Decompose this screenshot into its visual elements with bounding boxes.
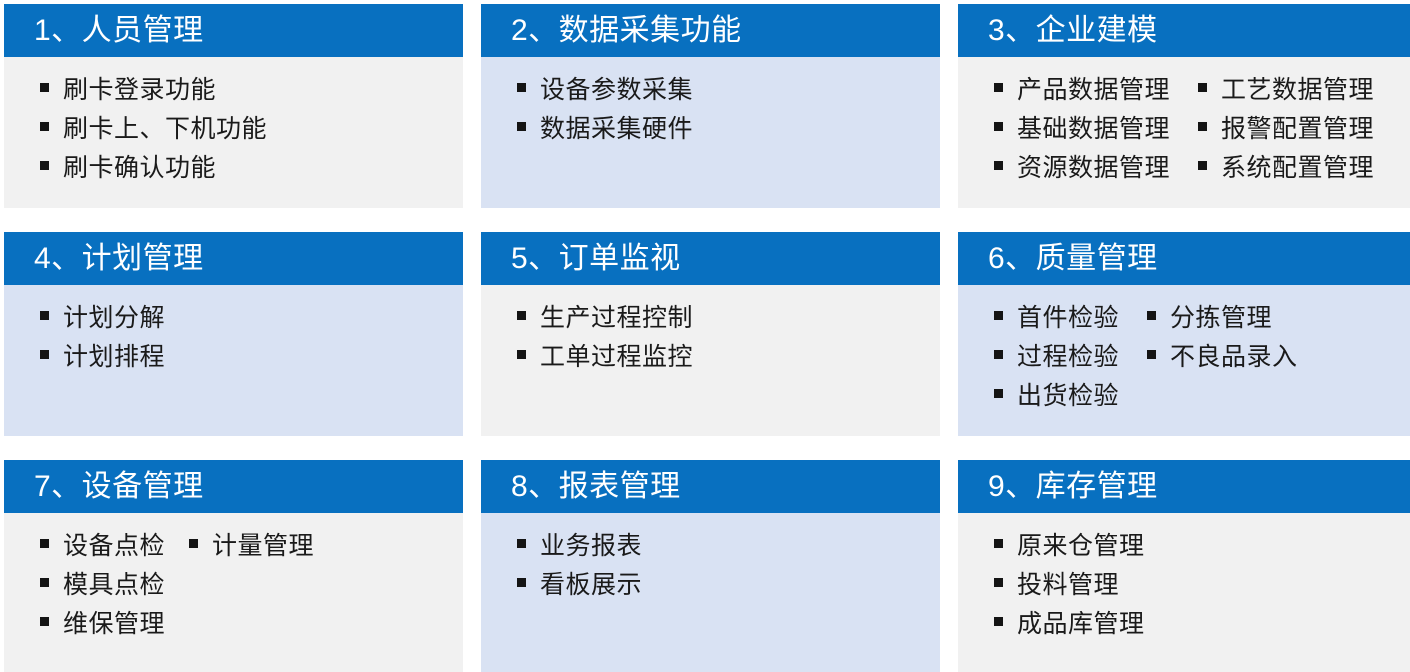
module-card-8: 8、报表管理业务报表看板展示 bbox=[481, 460, 940, 672]
module-item-label: 维保管理 bbox=[63, 605, 165, 644]
module-item-column-right: 计量管理 bbox=[165, 527, 314, 566]
square-bullet-icon bbox=[40, 161, 49, 170]
module-item: 产品数据管理 bbox=[994, 71, 1170, 110]
module-card-1: 1、人员管理刷卡登录功能刷卡上、下机功能刷卡确认功能 bbox=[4, 4, 463, 208]
module-item-column-left: 设备点检模具点检维保管理 bbox=[4, 527, 165, 644]
square-bullet-icon bbox=[517, 83, 526, 92]
module-item-label: 刷卡登录功能 bbox=[63, 71, 216, 110]
module-card-body: 生产过程控制工单过程监控 bbox=[481, 285, 940, 436]
module-card-header: 7、设备管理 bbox=[4, 460, 463, 513]
square-bullet-icon bbox=[517, 539, 526, 548]
module-item-label: 生产过程控制 bbox=[540, 299, 693, 338]
module-item: 数据采集硬件 bbox=[517, 110, 693, 149]
module-card-header: 1、人员管理 bbox=[4, 4, 463, 57]
module-card-4: 4、计划管理计划分解计划排程 bbox=[4, 232, 463, 436]
module-item: 刷卡登录功能 bbox=[40, 71, 267, 110]
module-item-label: 设备参数采集 bbox=[540, 71, 693, 110]
square-bullet-icon bbox=[1198, 161, 1207, 170]
module-item: 系统配置管理 bbox=[1198, 149, 1374, 188]
module-item: 模具点检 bbox=[40, 566, 165, 605]
module-item-column-left: 业务报表看板展示 bbox=[481, 527, 642, 605]
module-card-2: 2、数据采集功能设备参数采集数据采集硬件 bbox=[481, 4, 940, 208]
module-item-column-left: 产品数据管理基础数据管理资源数据管理 bbox=[958, 71, 1170, 188]
square-bullet-icon bbox=[994, 578, 1003, 587]
module-item: 刷卡上、下机功能 bbox=[40, 110, 267, 149]
square-bullet-icon bbox=[517, 578, 526, 587]
module-card-3: 3、企业建模产品数据管理基础数据管理资源数据管理工艺数据管理报警配置管理系统配置… bbox=[958, 4, 1410, 208]
module-item: 设备点检 bbox=[40, 527, 165, 566]
module-item-label: 投料管理 bbox=[1017, 566, 1119, 605]
module-item-label: 工单过程监控 bbox=[540, 338, 693, 377]
module-item-label: 不良品录入 bbox=[1170, 338, 1298, 377]
module-item: 原来仓管理 bbox=[994, 527, 1145, 566]
square-bullet-icon bbox=[994, 350, 1003, 359]
square-bullet-icon bbox=[40, 83, 49, 92]
square-bullet-icon bbox=[994, 311, 1003, 320]
module-item: 分拣管理 bbox=[1147, 299, 1298, 338]
module-item: 报警配置管理 bbox=[1198, 110, 1374, 149]
module-item-label: 资源数据管理 bbox=[1017, 149, 1170, 188]
module-item-label: 业务报表 bbox=[540, 527, 642, 566]
square-bullet-icon bbox=[40, 578, 49, 587]
module-card-6: 6、质量管理首件检验过程检验出货检验分拣管理不良品录入 bbox=[958, 232, 1410, 436]
module-item-column-left: 设备参数采集数据采集硬件 bbox=[481, 71, 693, 149]
module-item: 设备参数采集 bbox=[517, 71, 693, 110]
module-item-label: 刷卡上、下机功能 bbox=[63, 110, 267, 149]
module-item-label: 原来仓管理 bbox=[1017, 527, 1145, 566]
module-item-column-right: 分拣管理不良品录入 bbox=[1119, 299, 1298, 377]
module-item-column-left: 计划分解计划排程 bbox=[4, 299, 165, 377]
module-item-column-left: 刷卡登录功能刷卡上、下机功能刷卡确认功能 bbox=[4, 71, 267, 188]
module-card-body: 产品数据管理基础数据管理资源数据管理工艺数据管理报警配置管理系统配置管理 bbox=[958, 57, 1410, 208]
square-bullet-icon bbox=[1147, 350, 1156, 359]
module-item: 业务报表 bbox=[517, 527, 642, 566]
module-item: 工单过程监控 bbox=[517, 338, 693, 377]
module-card-body: 首件检验过程检验出货检验分拣管理不良品录入 bbox=[958, 285, 1410, 436]
module-item: 维保管理 bbox=[40, 605, 165, 644]
square-bullet-icon bbox=[40, 350, 49, 359]
module-item-label: 看板展示 bbox=[540, 566, 642, 605]
module-item: 工艺数据管理 bbox=[1198, 71, 1374, 110]
module-item-label: 计划排程 bbox=[63, 338, 165, 377]
module-item-label: 系统配置管理 bbox=[1221, 149, 1374, 188]
module-item: 计划分解 bbox=[40, 299, 165, 338]
module-item-label: 计量管理 bbox=[212, 527, 314, 566]
module-card-body: 原来仓管理投料管理成品库管理 bbox=[958, 513, 1410, 672]
module-item-label: 基础数据管理 bbox=[1017, 110, 1170, 149]
module-item: 计量管理 bbox=[189, 527, 314, 566]
module-item-label: 成品库管理 bbox=[1017, 605, 1145, 644]
module-card-header: 9、库存管理 bbox=[958, 460, 1410, 513]
square-bullet-icon bbox=[994, 539, 1003, 548]
module-item: 计划排程 bbox=[40, 338, 165, 377]
square-bullet-icon bbox=[994, 83, 1003, 92]
module-item-label: 数据采集硬件 bbox=[540, 110, 693, 149]
module-item: 不良品录入 bbox=[1147, 338, 1298, 377]
module-item: 出货检验 bbox=[994, 377, 1119, 416]
square-bullet-icon bbox=[40, 539, 49, 548]
module-card-body: 计划分解计划排程 bbox=[4, 285, 463, 436]
module-card-header: 6、质量管理 bbox=[958, 232, 1410, 285]
module-card-body: 刷卡登录功能刷卡上、下机功能刷卡确认功能 bbox=[4, 57, 463, 208]
module-item: 过程检验 bbox=[994, 338, 1119, 377]
module-item-label: 产品数据管理 bbox=[1017, 71, 1170, 110]
module-item-label: 工艺数据管理 bbox=[1221, 71, 1374, 110]
module-card-body: 设备参数采集数据采集硬件 bbox=[481, 57, 940, 208]
module-item-column-left: 首件检验过程检验出货检验 bbox=[958, 299, 1119, 416]
module-item: 首件检验 bbox=[994, 299, 1119, 338]
square-bullet-icon bbox=[517, 311, 526, 320]
module-card-7: 7、设备管理设备点检模具点检维保管理计量管理 bbox=[4, 460, 463, 672]
module-item-label: 过程检验 bbox=[1017, 338, 1119, 377]
module-card-header: 5、订单监视 bbox=[481, 232, 940, 285]
square-bullet-icon bbox=[517, 350, 526, 359]
square-bullet-icon bbox=[994, 122, 1003, 131]
module-item-label: 设备点检 bbox=[63, 527, 165, 566]
square-bullet-icon bbox=[517, 122, 526, 131]
square-bullet-icon bbox=[994, 161, 1003, 170]
module-card-header: 2、数据采集功能 bbox=[481, 4, 940, 57]
square-bullet-icon bbox=[994, 389, 1003, 398]
module-item-column-left: 原来仓管理投料管理成品库管理 bbox=[958, 527, 1145, 644]
module-item-column-left: 生产过程控制工单过程监控 bbox=[481, 299, 693, 377]
module-item-label: 计划分解 bbox=[63, 299, 165, 338]
module-item-label: 首件检验 bbox=[1017, 299, 1119, 338]
module-card-5: 5、订单监视生产过程控制工单过程监控 bbox=[481, 232, 940, 436]
module-card-header: 8、报表管理 bbox=[481, 460, 940, 513]
module-item-label: 报警配置管理 bbox=[1221, 110, 1374, 149]
module-item-label: 刷卡确认功能 bbox=[63, 149, 216, 188]
square-bullet-icon bbox=[1198, 83, 1207, 92]
module-item: 基础数据管理 bbox=[994, 110, 1170, 149]
module-card-header: 4、计划管理 bbox=[4, 232, 463, 285]
module-item: 资源数据管理 bbox=[994, 149, 1170, 188]
module-item: 投料管理 bbox=[994, 566, 1145, 605]
module-item-label: 模具点检 bbox=[63, 566, 165, 605]
module-item: 看板展示 bbox=[517, 566, 642, 605]
square-bullet-icon bbox=[40, 122, 49, 131]
module-card-header: 3、企业建模 bbox=[958, 4, 1410, 57]
square-bullet-icon bbox=[189, 539, 198, 548]
module-card-9: 9、库存管理原来仓管理投料管理成品库管理 bbox=[958, 460, 1410, 672]
square-bullet-icon bbox=[1147, 311, 1156, 320]
square-bullet-icon bbox=[994, 617, 1003, 626]
module-card-body: 设备点检模具点检维保管理计量管理 bbox=[4, 513, 463, 672]
module-item: 刷卡确认功能 bbox=[40, 149, 267, 188]
module-item-column-right: 工艺数据管理报警配置管理系统配置管理 bbox=[1170, 71, 1374, 188]
module-item-label: 分拣管理 bbox=[1170, 299, 1272, 338]
module-item: 成品库管理 bbox=[994, 605, 1145, 644]
square-bullet-icon bbox=[40, 311, 49, 320]
module-card-body: 业务报表看板展示 bbox=[481, 513, 940, 672]
module-item-label: 出货检验 bbox=[1017, 377, 1119, 416]
module-item: 生产过程控制 bbox=[517, 299, 693, 338]
module-grid: 1、人员管理刷卡登录功能刷卡上、下机功能刷卡确认功能2、数据采集功能设备参数采集… bbox=[0, 0, 1410, 668]
square-bullet-icon bbox=[40, 617, 49, 626]
square-bullet-icon bbox=[1198, 122, 1207, 131]
